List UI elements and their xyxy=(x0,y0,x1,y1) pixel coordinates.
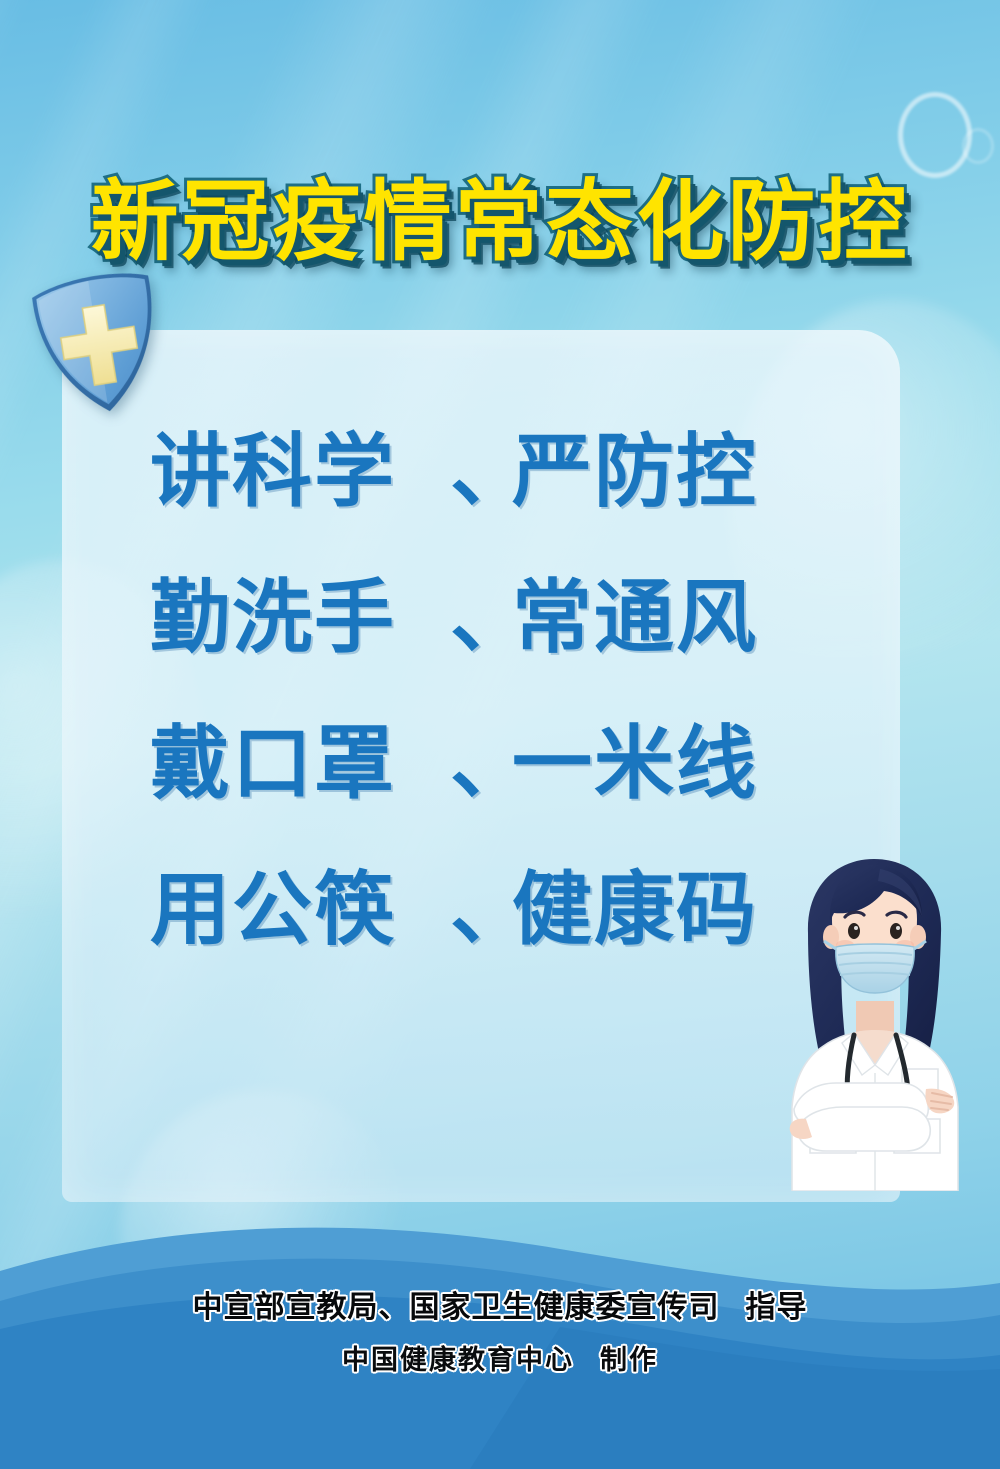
slogan-separator: 、 xyxy=(450,724,512,804)
slogan-line: 讲科学 、 严防控 xyxy=(62,432,900,512)
bubble-ring-icon xyxy=(962,128,994,164)
slogan-separator: 、 xyxy=(450,432,512,512)
footer-guidance-role: 指导 xyxy=(746,1290,808,1325)
footer-producer-org: 中国健康教育中心 xyxy=(342,1345,574,1376)
slogan-segment: 勤洗手 xyxy=(150,578,450,658)
slogan-separator: 、 xyxy=(450,870,512,950)
slogan-segment: 一米线 xyxy=(512,724,812,804)
footer-guidance-line: 中宣部宣教局、国家卫生健康委宣传司指导 xyxy=(0,1282,1000,1326)
shield-with-cross-icon xyxy=(17,258,181,428)
slogan-segment: 严防控 xyxy=(512,432,812,512)
page-title: 新冠疫情常态化防控 xyxy=(0,178,1000,266)
slogan-segment: 用公筷 xyxy=(150,870,450,950)
bubble-ring-icon xyxy=(898,92,972,178)
slogan-separator: 、 xyxy=(450,578,512,658)
footer-guidance-org: 中宣部宣教局、国家卫生健康委宣传司 xyxy=(193,1290,720,1325)
slogan-segment: 常通风 xyxy=(512,578,812,658)
slogan-line: 勤洗手 、 常通风 xyxy=(62,578,900,658)
slogan-line: 戴口罩 、 一米线 xyxy=(62,724,900,804)
poster-root: 新冠疫情常态化防控 讲科学 、 xyxy=(0,0,1000,1469)
footer: 中宣部宣教局、国家卫生健康委宣传司指导 中国健康教育中心制作 xyxy=(0,1282,1000,1377)
footer-producer-role: 制作 xyxy=(600,1345,658,1376)
page-title-text: 新冠疫情常态化防控 xyxy=(90,178,909,266)
female-doctor-illustration xyxy=(750,851,1000,1191)
slogan-segment: 讲科学 xyxy=(150,432,450,512)
footer-producer-line: 中国健康教育中心制作 xyxy=(0,1338,1000,1377)
slogan-segment: 戴口罩 xyxy=(150,724,450,804)
